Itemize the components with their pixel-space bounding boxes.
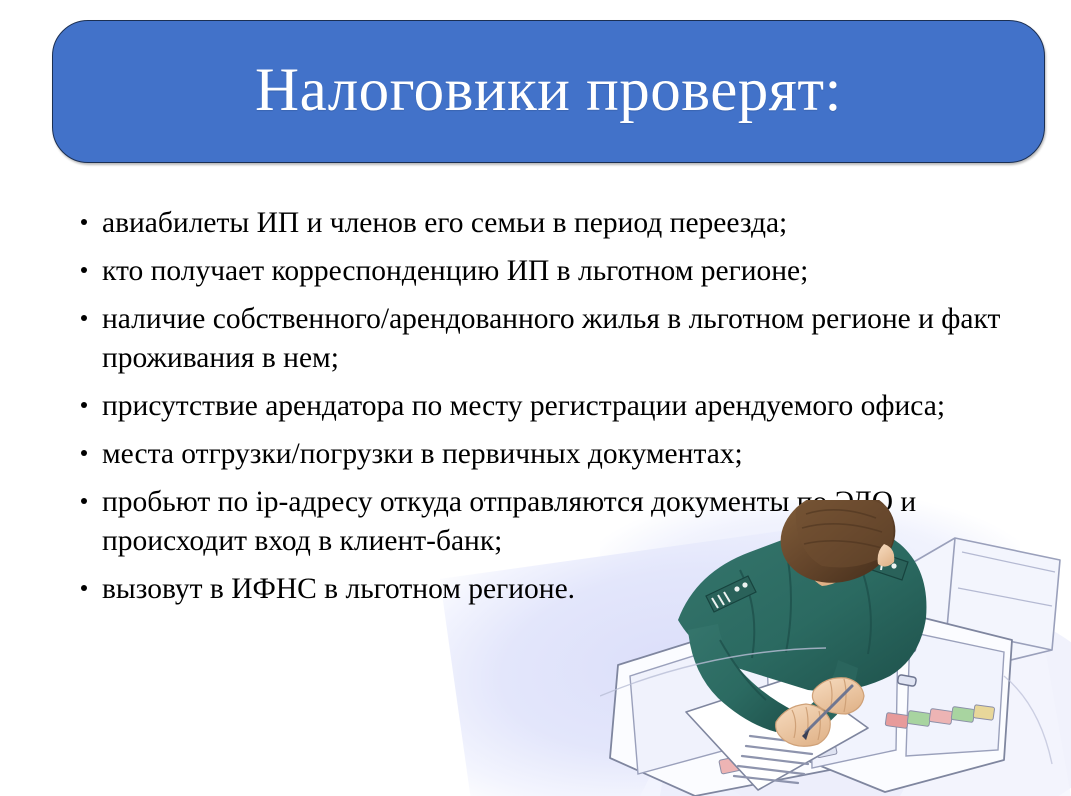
- bullet-dot-icon: [81, 267, 87, 273]
- bullet-dot-icon: [81, 402, 87, 408]
- list-item: авиабилеты ИП и членов его семьи в перио…: [76, 204, 1006, 243]
- list-item: кто получает корреспонденцию ИП в льготн…: [76, 252, 1006, 291]
- bullet-dot-icon: [81, 450, 87, 456]
- title-banner: Налоговики проверят:: [52, 20, 1045, 163]
- bullet-dot-icon: [81, 585, 87, 591]
- list-item: вызовут в ИФНС в льготном регионе.: [76, 570, 1006, 609]
- list-item: места отгрузки/погрузки в первичных доку…: [76, 435, 1006, 474]
- bullet-list: авиабилеты ИП и членов его семьи в перио…: [76, 204, 1006, 617]
- list-item-label: вызовут в ИФНС в льготном регионе.: [102, 570, 1006, 609]
- list-item-label: кто получает корреспонденцию ИП в льготн…: [102, 252, 1006, 291]
- list-item-label: наличие собственного/арендованного жилья…: [102, 300, 1006, 378]
- slide: Налоговики проверят: авиабилеты ИП и чле…: [0, 0, 1071, 796]
- list-item-label: места отгрузки/погрузки в первичных доку…: [102, 435, 1006, 474]
- page-title: Налоговики проверят:: [255, 59, 842, 123]
- bullet-dot-icon: [81, 498, 87, 504]
- list-item-label: пробьют по ip-адресу откуда отправляются…: [102, 483, 1006, 561]
- list-item: наличие собственного/арендованного жилья…: [76, 300, 1006, 378]
- bullet-dot-icon: [81, 219, 87, 225]
- list-item-label: присутствие арендатора по месту регистра…: [102, 387, 1006, 426]
- bullet-dot-icon: [81, 315, 87, 321]
- list-item-label: авиабилеты ИП и членов его семьи в перио…: [102, 204, 1006, 243]
- list-item: пробьют по ip-адресу откуда отправляются…: [76, 483, 1006, 561]
- list-item: присутствие арендатора по месту регистра…: [76, 387, 1006, 426]
